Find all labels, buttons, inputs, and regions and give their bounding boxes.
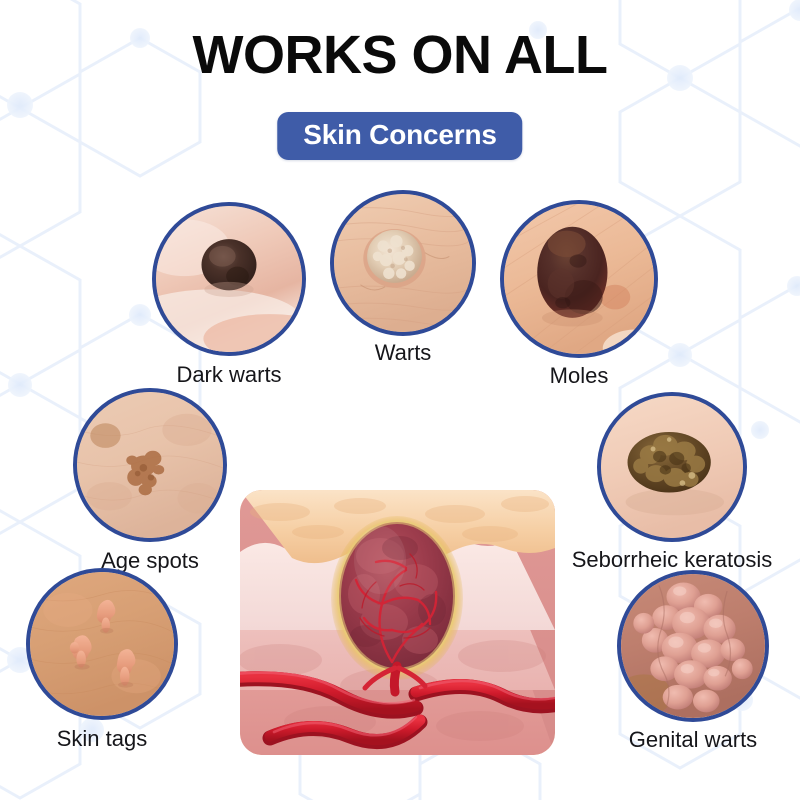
common-wart-on-skin-photo	[334, 194, 472, 332]
concern-image-moles	[500, 200, 658, 358]
concern-image-skin-tags	[26, 568, 178, 720]
status-badge: Skin Concerns	[277, 112, 522, 160]
concern-seborrheic-keratosis[interactable]: Seborrheic keratosis	[597, 392, 747, 542]
badge-label: Skin Concerns	[303, 119, 496, 151]
concern-image-warts	[330, 190, 476, 336]
concern-label-moles: Moles	[550, 363, 609, 389]
concern-genital-warts[interactable]: Genital warts	[617, 570, 769, 722]
concern-image-dark-warts	[152, 202, 306, 356]
concern-warts[interactable]: Warts	[330, 190, 476, 336]
concern-label-dark-warts: Dark warts	[176, 362, 281, 388]
page-title: WORKS ON ALL	[0, 27, 800, 84]
dark-mole-on-skin-photo	[504, 204, 654, 354]
concern-label-genital-warts: Genital warts	[629, 727, 757, 753]
genital-warts-cluster-photo	[621, 574, 765, 718]
skin-cross-section-illustration	[240, 490, 555, 755]
concern-label-skin-tags: Skin tags	[57, 726, 148, 752]
concern-label-warts: Warts	[375, 340, 432, 366]
concern-image-genital-warts	[617, 570, 769, 722]
concern-dark-warts[interactable]: Dark warts	[152, 202, 306, 356]
seborrheic-keratosis-lesion-photo	[601, 396, 743, 538]
concern-image-age-spots	[73, 388, 227, 542]
age-spot-on-skin-photo	[77, 392, 223, 538]
concern-image-seborrheic-keratosis	[597, 392, 747, 542]
dark-wart-on-skin-photo	[156, 206, 302, 352]
concern-age-spots[interactable]: Age spots	[73, 388, 227, 542]
concern-skin-tags[interactable]: Skin tags	[26, 568, 178, 720]
skin-tags-on-skin-photo	[30, 572, 174, 716]
concern-moles[interactable]: Moles	[500, 200, 658, 358]
